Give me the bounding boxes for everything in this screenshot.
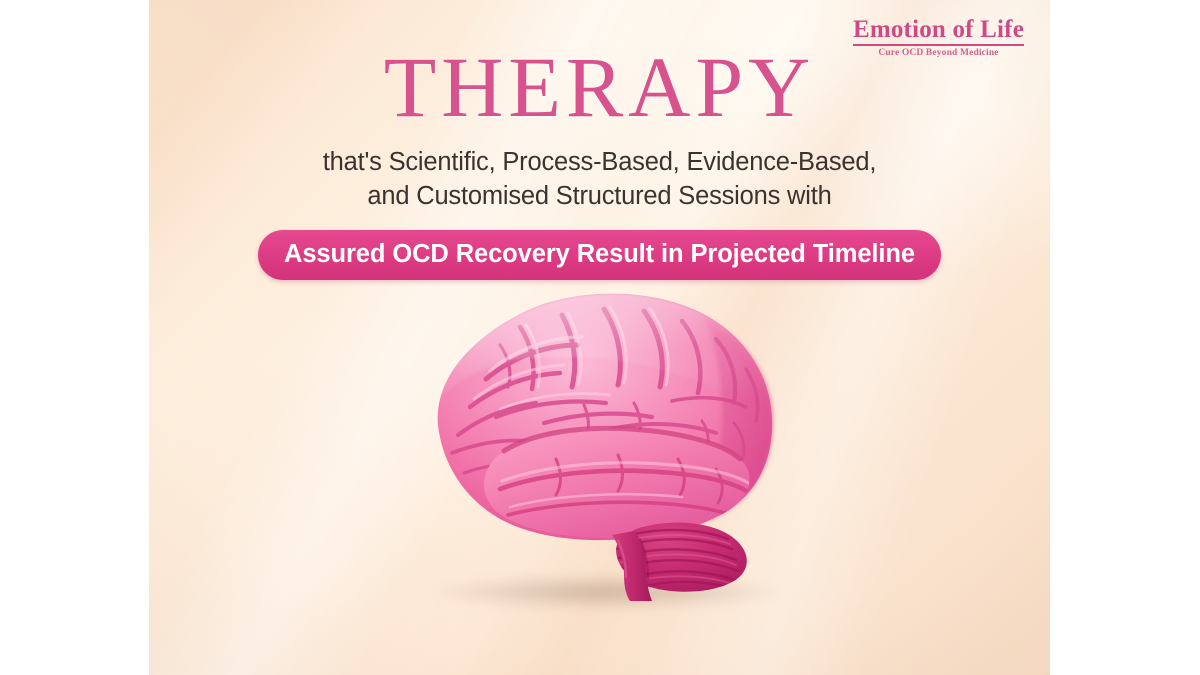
brain-illustration [404,283,804,603]
highlight-banner: Assured OCD Recovery Result in Projected… [258,230,941,280]
headline-block: THERAPY that's Scientific, Process-Based… [149,44,1050,280]
poster-frame: Emotion of Life Cure OCD Beyond Medicine… [0,0,1200,675]
poster-artboard: Emotion of Life Cure OCD Beyond Medicine… [149,0,1050,675]
headline-subtitle-line-2: and Customised Structured Sessions with [149,180,1050,214]
highlight-pill-container: Assured OCD Recovery Result in Projected… [149,230,1050,280]
headline-subtitle: that's Scientific, Process-Based, Eviden… [149,146,1050,214]
brain-svg [404,283,804,603]
brain-temporal-lobe [484,428,754,538]
headline-subtitle-line-1: that's Scientific, Process-Based, Eviden… [149,146,1050,180]
brand-wordmark: Emotion of Life [853,17,1024,42]
page-title: THERAPY [149,44,1050,130]
